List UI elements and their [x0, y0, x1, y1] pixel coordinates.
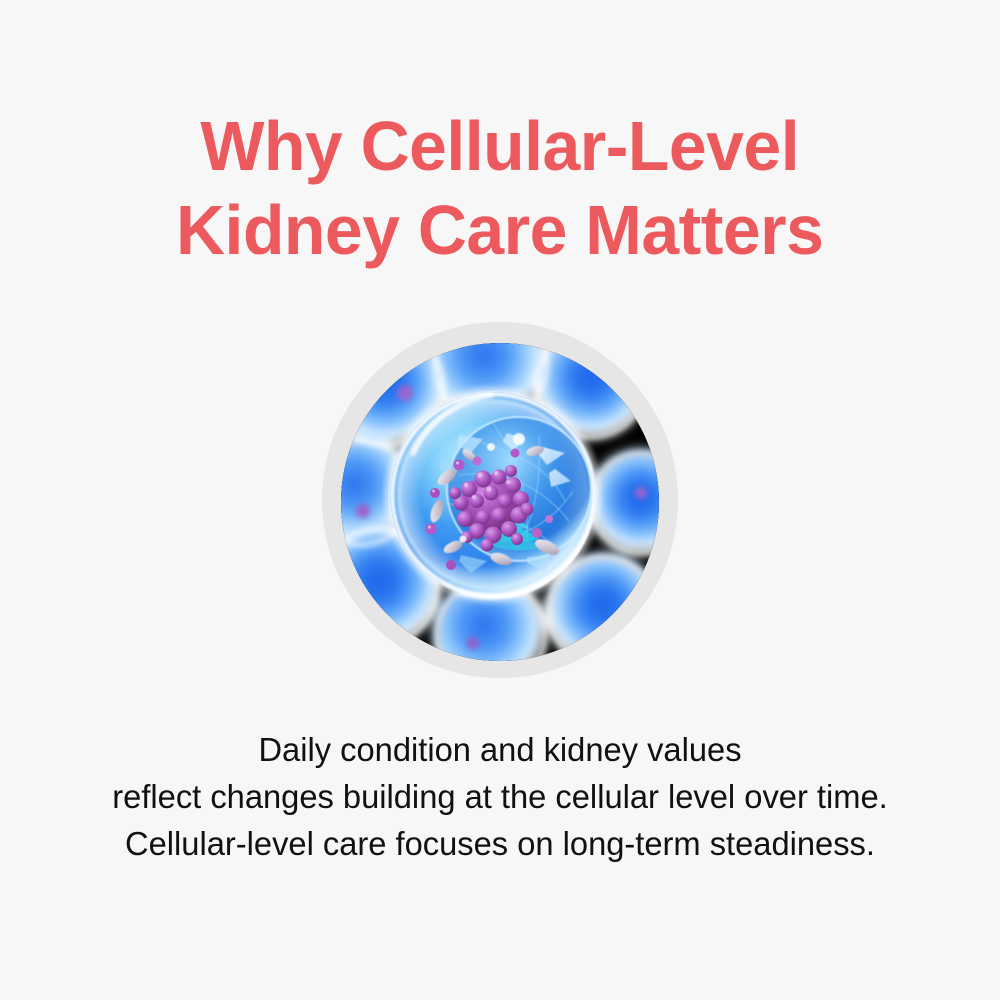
cell-image	[341, 343, 659, 661]
description-line-2: reflect changes building at the cellular…	[5, 773, 995, 820]
description-line-1: Daily condition and kidney values	[5, 726, 995, 773]
description-line-3: Cellular-level care focuses on long-term…	[5, 820, 995, 867]
cell-figure	[322, 322, 678, 678]
page-title-line-1: Why Cellular-Level	[176, 104, 823, 188]
page-title: Why Cellular-Level Kidney Care Matters	[166, 0, 833, 272]
poster-card: Why Cellular-Level Kidney Care Matters	[0, 0, 1000, 1000]
page-title-line-2: Kidney Care Matters	[176, 188, 823, 272]
description-text: Daily condition and kidney values reflec…	[0, 726, 1000, 867]
